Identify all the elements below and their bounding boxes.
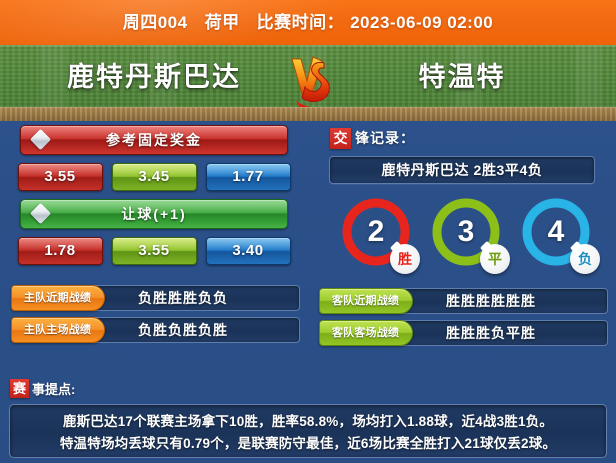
- home-team-name: 鹿特丹斯巴达: [34, 45, 274, 107]
- match-number: 周四004: [123, 13, 188, 32]
- notes-title: 赛 事提点:: [10, 378, 616, 398]
- notes-line-1: 鹿斯巴达17个联赛主场拿下10胜，胜率58.8%，场均打入1.88球，近4战3胜…: [10, 410, 606, 430]
- h2h-badge: 交: [330, 128, 351, 149]
- versus-icon: [284, 51, 336, 115]
- versus-banner: 鹿特丹斯巴达 特温特: [0, 45, 616, 121]
- header-text: 周四004荷甲比赛时间：2023-06-09 02:00: [0, 0, 616, 45]
- diamond-icon: [29, 129, 51, 151]
- handicap-title: 让球(+1): [21, 200, 287, 228]
- handicap-odd-home-win[interactable]: 1.78: [18, 237, 103, 265]
- odd-value: 1.77: [207, 164, 290, 190]
- h2h-title-text: 锋记录：: [355, 128, 415, 148]
- handicap-odd-away-win[interactable]: 3.40: [206, 237, 291, 265]
- h2h-record-bar: 鹿特丹斯巴达 2胜3平4负: [329, 156, 595, 184]
- match-time-value: 2023-06-09 02:00: [350, 13, 493, 32]
- head-to-head-panel: 交 锋记录： 鹿特丹斯巴达 2胜3平4负 2 胜 3: [308, 125, 616, 352]
- ring-draws: 3 平: [428, 194, 504, 270]
- home-recent-form-tag: 主队近期战绩: [11, 285, 105, 311]
- odd-draw[interactable]: 3.45: [112, 163, 197, 191]
- away-recent-form-row: 胜胜胜胜胜胜 客队近期战绩: [319, 288, 606, 312]
- match-notes-panel: 赛 事提点: 鹿斯巴达17个联赛主场拿下10胜，胜率58.8%，场均打入1.88…: [0, 378, 616, 458]
- handicap-odd-draw[interactable]: 3.55: [112, 237, 197, 265]
- ring-losses-label: 负: [570, 244, 600, 274]
- odd-value: 1.78: [19, 238, 102, 264]
- h2h-record-text: 鹿特丹斯巴达 2胜3平4负: [330, 157, 594, 183]
- handicap-header[interactable]: 让球(+1): [20, 199, 288, 229]
- ring-wins-label: 胜: [390, 244, 420, 274]
- away-recent-form-tag: 客队近期战绩: [319, 288, 413, 314]
- notes-title-text: 事提点:: [32, 379, 75, 398]
- ring-losses-badge: 负: [570, 244, 600, 274]
- tag-label: 主队主场战绩: [12, 318, 104, 342]
- ring-wins-badge: 胜: [390, 244, 420, 274]
- handicap-odds-row: 1.78 3.55 3.40: [0, 237, 308, 265]
- match-time-label: 比赛时间：: [257, 13, 345, 32]
- fixed-odds-title: 参考固定奖金: [21, 126, 287, 154]
- away-venue-form-tag: 客队客场战绩: [319, 320, 413, 346]
- odd-home-win[interactable]: 3.55: [18, 163, 103, 191]
- h2h-ring-chart: 2 胜 3 平 4 负: [308, 194, 616, 274]
- home-venue-form-row: 负胜负胜负胜 主队主场战绩: [11, 317, 298, 341]
- notes-badge: 赛: [10, 379, 29, 398]
- h2h-title: 交 锋记录：: [330, 127, 616, 149]
- away-venue-form-row: 胜胜胜负平胜 客队客场战绩: [319, 320, 606, 344]
- fixed-odds-row: 3.55 3.45 1.77: [0, 163, 308, 191]
- tag-label: 主队近期战绩: [12, 286, 104, 310]
- ring-draws-badge: 平: [480, 244, 510, 274]
- ring-wins: 2 胜: [338, 194, 414, 270]
- odd-value: 3.55: [19, 164, 102, 190]
- notes-line-2: 特温特场均丢球只有0.79个，是联赛防守最佳，近6场比赛全胜打入21球仅丢2球。: [10, 432, 606, 452]
- ring-losses: 4 负: [518, 194, 594, 270]
- tag-label: 客队客场战绩: [320, 321, 412, 345]
- tag-label: 客队近期战绩: [320, 289, 412, 313]
- odds-panel: 参考固定奖金 3.55 3.45 1.77 让球(+1) 1.78 3.55 3…: [0, 125, 308, 349]
- diamond-icon: [29, 203, 51, 225]
- odd-value: 3.55: [113, 238, 196, 264]
- ring-draws-label: 平: [480, 244, 510, 274]
- pitch-edge: [0, 107, 616, 121]
- fixed-odds-header[interactable]: 参考固定奖金: [20, 125, 288, 155]
- odd-value: 3.40: [207, 238, 290, 264]
- match-preview-card: 周四004荷甲比赛时间：2023-06-09 02:00 鹿特丹斯巴达: [0, 0, 616, 463]
- notes-box: 鹿斯巴达17个联赛主场拿下10胜，胜率58.8%，场均打入1.88球，近4战3胜…: [9, 404, 607, 458]
- header-bar: 周四004荷甲比赛时间：2023-06-09 02:00: [0, 0, 616, 45]
- home-venue-form-tag: 主队主场战绩: [11, 317, 105, 343]
- away-team-name: 特温特: [342, 45, 582, 107]
- odd-away-win[interactable]: 1.77: [206, 163, 291, 191]
- league-name: 荷甲: [205, 13, 240, 32]
- home-recent-form-row: 负胜胜胜负负 主队近期战绩: [11, 285, 298, 309]
- odd-value: 3.45: [113, 164, 196, 190]
